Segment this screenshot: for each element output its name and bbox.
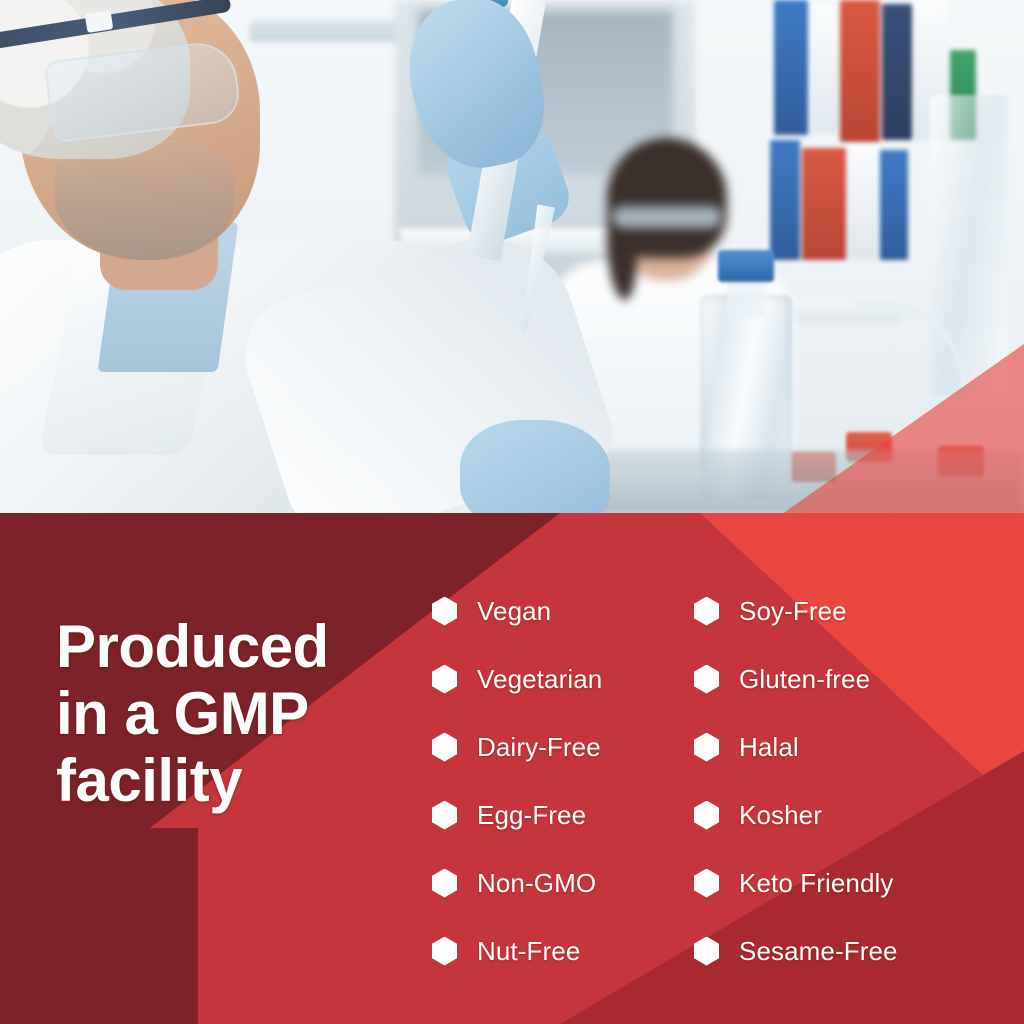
shelf-box-red-1: [840, 0, 880, 142]
headline-line-3: facility: [56, 747, 456, 814]
shelf-box-blue-3: [880, 150, 908, 260]
certification-label: Dairy-Free: [477, 732, 601, 763]
hexagon-bullet-icon: [432, 665, 457, 694]
hexagon-bullet-icon: [694, 869, 719, 898]
hexagon-bullet-icon: [432, 869, 457, 898]
list-item: Soy-Free: [694, 577, 956, 645]
page-title: Produced in a GMP facility: [56, 613, 456, 815]
red-content-panel: Produced in a GMP facility Vegan Vegetar…: [0, 513, 1024, 1024]
gmp-facility-poster: Produced in a GMP facility Vegan Vegetar…: [0, 0, 1024, 1024]
headline-line-2: in a GMP: [56, 680, 456, 747]
list-item: Keto Friendly: [694, 849, 956, 917]
hexagon-bullet-icon: [694, 665, 719, 694]
list-item: Gluten-free: [694, 645, 956, 713]
list-item: Egg-Free: [432, 781, 694, 849]
certification-column-left: Vegan Vegetarian Dairy-Free Egg-Free Non…: [432, 577, 694, 985]
shelf-box-white-1: [812, 6, 838, 134]
shelf-box-white-3: [848, 142, 878, 260]
reagent-bottle-cap: [718, 250, 774, 282]
hexagon-bullet-icon: [432, 801, 457, 830]
shelf-box-blue-1: [774, 0, 808, 135]
hexagon-bullet-icon: [694, 733, 719, 762]
list-item: Vegetarian: [432, 645, 694, 713]
headline-line-1: Produced: [56, 613, 456, 680]
certification-label: Egg-Free: [477, 800, 586, 831]
list-item: Kosher: [694, 781, 956, 849]
certification-label: Gluten-free: [739, 664, 870, 695]
certification-label: Kosher: [739, 800, 822, 831]
safety-goggles-clip: [85, 10, 114, 33]
hexagon-bullet-icon: [432, 597, 457, 626]
hexagon-bullet-icon: [694, 597, 719, 626]
certification-label: Vegetarian: [477, 664, 602, 695]
certification-label: Non-GMO: [477, 868, 596, 899]
nitrile-glove-hand-lower: [460, 420, 610, 514]
female-scientist-goggles: [613, 204, 721, 228]
male-scientist: [0, 0, 580, 514]
certification-label: Keto Friendly: [739, 868, 893, 899]
certification-label: Soy-Free: [739, 596, 847, 627]
hexagon-bullet-icon: [432, 733, 457, 762]
certification-lists: Vegan Vegetarian Dairy-Free Egg-Free Non…: [432, 577, 992, 985]
list-item: Dairy-Free: [432, 713, 694, 781]
list-item: Vegan: [432, 577, 694, 645]
list-item: Halal: [694, 713, 956, 781]
lab-photo: [0, 0, 1024, 514]
lab-photo-scene: [0, 0, 1024, 514]
hexagon-bullet-icon: [694, 937, 719, 966]
certification-label: Vegan: [477, 596, 551, 627]
list-item: Nut-Free: [432, 917, 694, 985]
list-item: Sesame-Free: [694, 917, 956, 985]
certification-column-right: Soy-Free Gluten-free Halal Kosher Keto F…: [694, 577, 956, 985]
hexagon-bullet-icon: [694, 801, 719, 830]
certification-label: Halal: [739, 732, 799, 763]
shelf-box-navy-1: [882, 4, 912, 140]
shelf-box-red-2: [802, 148, 846, 260]
certification-label: Nut-Free: [477, 936, 580, 967]
hexagon-bullet-icon: [432, 937, 457, 966]
list-item: Non-GMO: [432, 849, 694, 917]
reagent-bottle-neck: [727, 276, 765, 318]
certification-label: Sesame-Free: [739, 936, 898, 967]
